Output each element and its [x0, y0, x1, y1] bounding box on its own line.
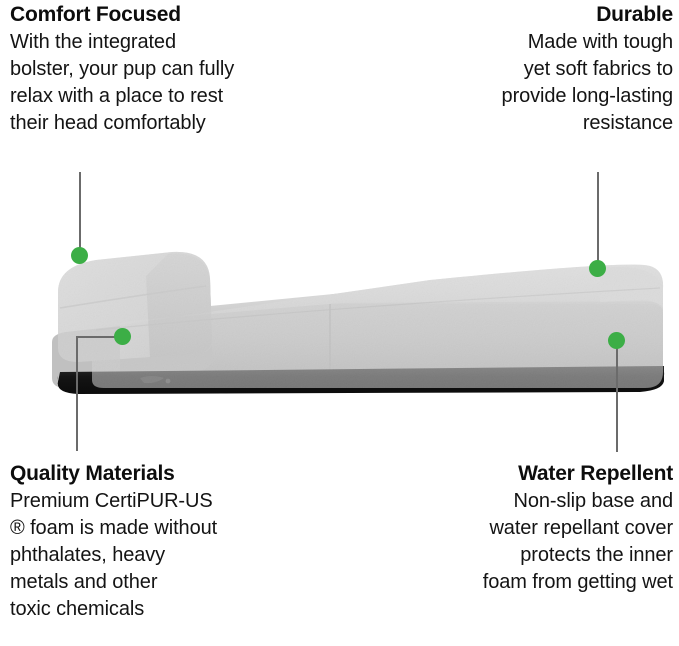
callout-line: toxic chemicals: [10, 596, 340, 623]
callout-body-quality-materials: Premium CertiPUR-US ® foam is made witho…: [10, 488, 340, 623]
marker-dot-comfort-focused: [71, 247, 88, 264]
callout-body-water-repellent: Non-slip base and water repellant cover …: [383, 488, 673, 596]
callout-line: With the integrated: [10, 29, 340, 56]
callout-quality-materials: Quality Materials Premium CertiPUR-US ® …: [10, 461, 340, 623]
callout-line: bolster, your pup can fully: [10, 56, 340, 83]
callout-title-comfort-focused: Comfort Focused: [10, 2, 340, 28]
callout-body-durable: Made with tough yet soft fabrics to prov…: [383, 29, 673, 137]
callout-line: phthalates, heavy: [10, 542, 340, 569]
callout-title-water-repellent: Water Repellent: [383, 461, 673, 487]
callout-line: ® foam is made without: [10, 515, 340, 542]
marker-dot-water-repellent: [608, 332, 625, 349]
callout-line: their head comfortably: [10, 110, 340, 137]
callout-title-quality-materials: Quality Materials: [10, 461, 340, 487]
marker-dot-durable: [589, 260, 606, 277]
callout-line: foam from getting wet: [383, 569, 673, 596]
callout-water-repellent: Water Repellent Non-slip base and water …: [383, 461, 673, 596]
callout-comfort-focused: Comfort Focused With the integrated bols…: [10, 2, 340, 137]
leader-line-quality-vertical: [76, 336, 78, 451]
fabric-texture-overlay: [58, 252, 663, 388]
callout-line: resistance: [383, 110, 673, 137]
product-infographic: Comfort Focused With the integrated bols…: [0, 0, 679, 646]
callout-durable: Durable Made with tough yet soft fabrics…: [383, 2, 673, 137]
leader-line-comfort-focused: [79, 172, 81, 256]
callout-line: Non-slip base and: [383, 488, 673, 515]
callout-body-comfort-focused: With the integrated bolster, your pup ca…: [10, 29, 340, 137]
callout-line: water repellant cover: [383, 515, 673, 542]
marker-dot-quality-materials: [114, 328, 131, 345]
callout-line: metals and other: [10, 569, 340, 596]
callout-line: relax with a place to rest: [10, 83, 340, 110]
callout-line: protects the inner: [383, 542, 673, 569]
callout-line: yet soft fabrics to: [383, 56, 673, 83]
callout-line: Premium CertiPUR-US: [10, 488, 340, 515]
product-image-dog-bed: [0, 230, 679, 395]
callout-line: Made with tough: [383, 29, 673, 56]
leader-line-water-repellent: [616, 341, 618, 452]
callout-title-durable: Durable: [383, 2, 673, 28]
callout-line: provide long-lasting: [383, 83, 673, 110]
leader-line-durable: [597, 172, 599, 269]
